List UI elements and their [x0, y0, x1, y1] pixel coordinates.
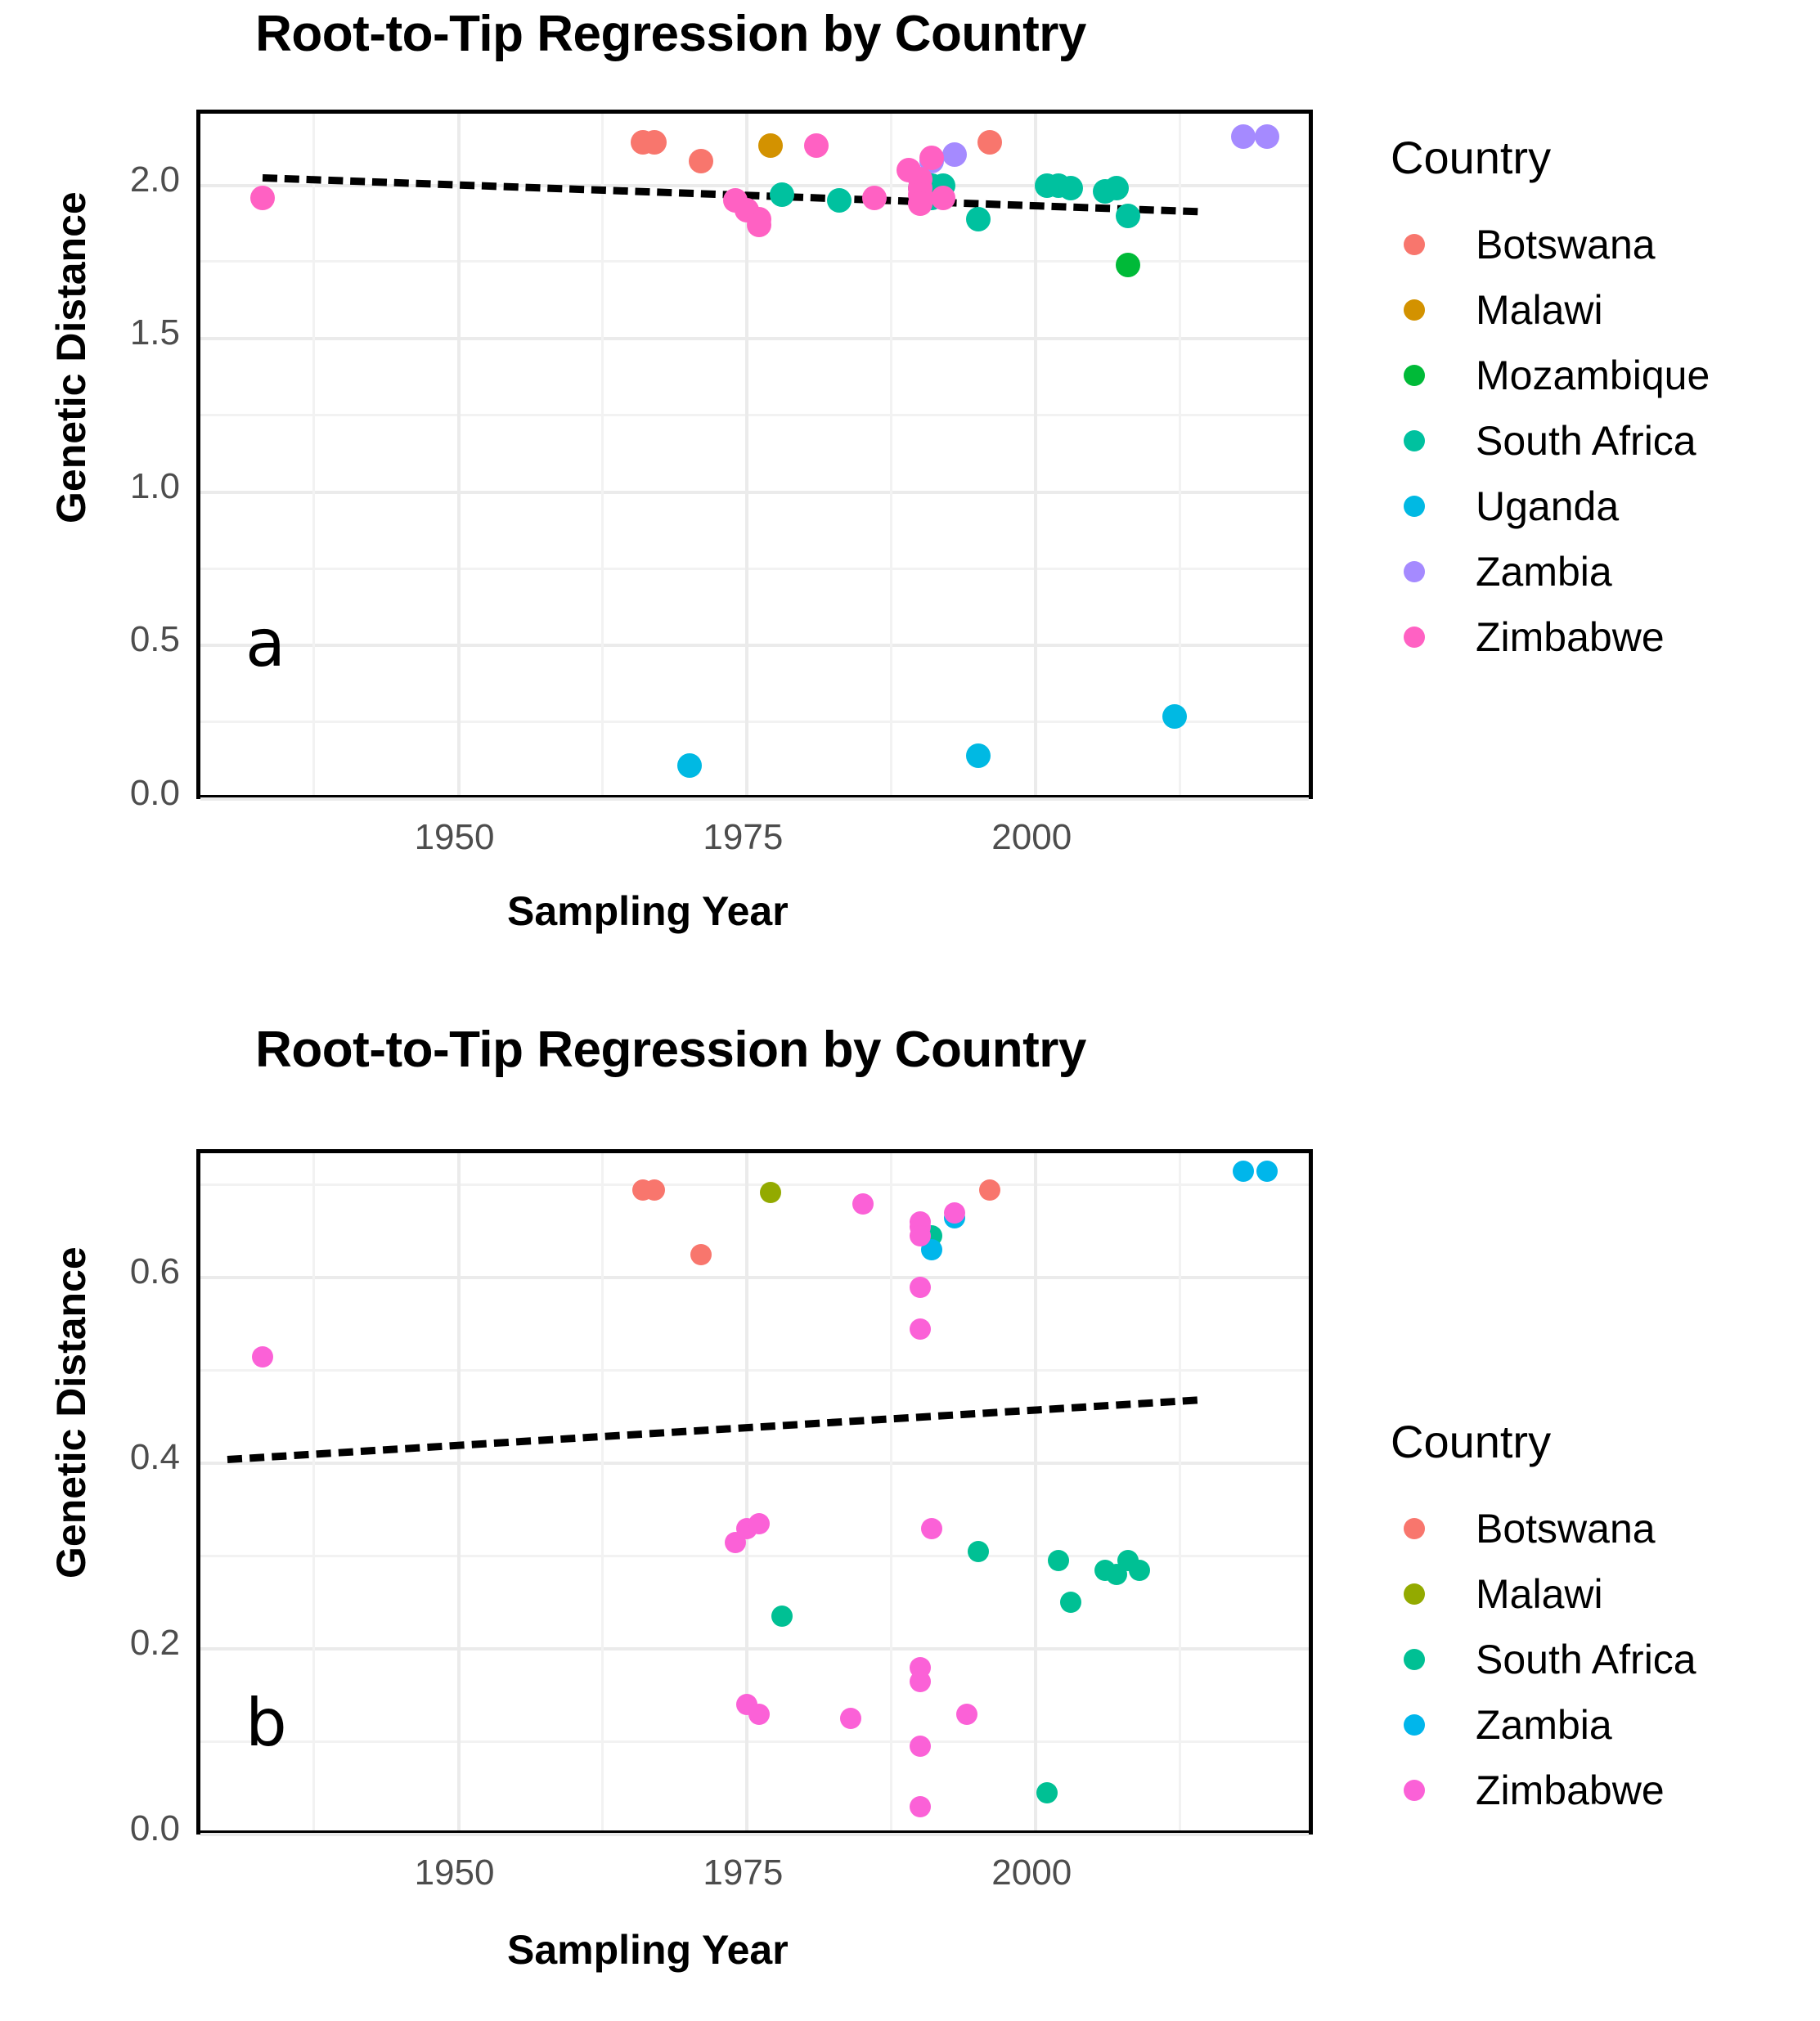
gridline-vertical — [890, 114, 892, 795]
gridline-horizontal — [200, 1276, 1309, 1279]
data-point-south-africa — [1036, 1782, 1058, 1803]
panel-a: Root-to-Tip Regression by Country Geneti… — [0, 0, 1820, 1006]
gridline-vertical — [601, 114, 604, 795]
data-point-zimbabwe — [910, 1277, 931, 1298]
y-tick-label: 0.0 — [45, 773, 180, 814]
data-point-zambia — [1256, 1161, 1278, 1182]
gridline-horizontal — [200, 414, 1309, 416]
panel-a-legend: Country BotswanaMalawiMozambiqueSouth Af… — [1391, 131, 1710, 670]
legend-item-label: South Africa — [1476, 1636, 1696, 1683]
data-point-south-africa — [968, 1541, 989, 1562]
panel-b-legend-rows: BotswanaMalawiSouth AfricaZambiaZimbabwe — [1391, 1496, 1696, 1823]
panel-b-legend: Country BotswanaMalawiSouth AfricaZambia… — [1391, 1415, 1696, 1823]
legend-item-label: Malawi — [1476, 286, 1603, 334]
data-point-zimbabwe — [252, 1346, 273, 1368]
legend-key-dot-icon — [1391, 1636, 1438, 1683]
legend-key-dot-icon — [1391, 613, 1438, 661]
panel-a-legend-title: Country — [1391, 131, 1710, 184]
gridline-horizontal — [200, 260, 1309, 263]
legend-key-dot-icon — [1391, 483, 1438, 530]
legend-item-zimbabwe[interactable]: Zimbabwe — [1391, 604, 1710, 670]
data-point-zimbabwe — [908, 191, 932, 216]
data-point-zambia — [1255, 124, 1279, 149]
panel-a-x-axis-label: Sampling Year — [507, 887, 789, 935]
gridline-vertical — [1034, 1153, 1037, 1830]
gridline-horizontal — [200, 1369, 1309, 1372]
data-point-zimbabwe — [921, 1518, 942, 1539]
data-point-zimbabwe — [747, 213, 771, 237]
gridline-horizontal — [200, 1647, 1309, 1650]
data-point-south-africa — [770, 182, 794, 207]
x-tick-label: 1975 — [653, 817, 833, 858]
legend-key-dot-icon — [1391, 548, 1438, 595]
panel-a-plot-area — [196, 110, 1313, 799]
regression-trendline — [227, 1397, 1198, 1464]
legend-item-south-africa[interactable]: South Africa — [1391, 408, 1710, 474]
legend-item-label: Uganda — [1476, 483, 1619, 530]
y-tick-label: 0.4 — [45, 1437, 180, 1478]
data-point-zimbabwe — [956, 1704, 977, 1725]
panel-a-letter: a — [245, 605, 285, 681]
data-point-botswana — [979, 1179, 1000, 1201]
data-point-south-africa — [1129, 1560, 1150, 1581]
data-point-south-africa — [771, 1606, 793, 1627]
x-tick-label: 1950 — [365, 1853, 545, 1893]
data-point-mozambique — [1116, 253, 1140, 277]
data-point-zimbabwe — [919, 146, 944, 170]
gridline-vertical — [457, 114, 461, 795]
gridline-horizontal — [200, 491, 1309, 494]
data-point-botswana — [690, 1244, 712, 1265]
y-tick-label: 0.5 — [45, 619, 180, 660]
legend-item-zambia[interactable]: Zambia — [1391, 539, 1710, 604]
legend-item-botswana[interactable]: Botswana — [1391, 1496, 1696, 1561]
data-point-zimbabwe — [910, 1736, 931, 1757]
gridline-horizontal — [200, 1555, 1309, 1557]
data-point-botswana — [644, 1179, 665, 1201]
gridline-vertical — [312, 114, 315, 795]
data-point-south-africa — [1104, 176, 1129, 200]
data-point-zambia — [1233, 1161, 1254, 1182]
panel-b-plot-area — [196, 1149, 1313, 1835]
panel-b-x-axis-label: Sampling Year — [507, 1926, 789, 1974]
legend-item-label: South Africa — [1476, 417, 1696, 465]
data-point-botswana — [642, 130, 667, 155]
panel-a-title: Root-to-Tip Regression by Country — [0, 5, 1341, 63]
gridline-horizontal — [200, 797, 1309, 801]
gridline-vertical — [312, 1153, 315, 1830]
data-point-zimbabwe — [944, 1202, 965, 1224]
legend-item-label: Zambia — [1476, 548, 1612, 595]
data-point-zimbabwe — [748, 1513, 770, 1534]
data-point-south-africa — [966, 207, 991, 231]
data-point-south-africa — [827, 188, 852, 213]
legend-key-dot-icon — [1391, 1767, 1438, 1814]
gridline-horizontal — [200, 1833, 1309, 1836]
figure-root: Root-to-Tip Regression by Country Geneti… — [0, 0, 1820, 2021]
data-point-zimbabwe — [910, 1225, 931, 1246]
panel-b-letter: b — [245, 1685, 287, 1761]
legend-item-label: Zimbabwe — [1476, 613, 1665, 661]
legend-item-uganda[interactable]: Uganda — [1391, 474, 1710, 539]
gridline-vertical — [745, 1153, 748, 1830]
x-tick-label: 1950 — [365, 817, 545, 858]
legend-item-mozambique[interactable]: Mozambique — [1391, 343, 1710, 408]
gridline-horizontal — [200, 1462, 1309, 1465]
data-point-zimbabwe — [910, 1671, 931, 1692]
gridline-horizontal — [200, 1740, 1309, 1743]
legend-key-dot-icon — [1391, 1570, 1438, 1618]
data-point-malawi — [760, 1182, 781, 1203]
gridline-horizontal — [200, 1183, 1309, 1186]
gridline-vertical — [890, 1153, 892, 1830]
legend-item-label: Malawi — [1476, 1570, 1603, 1618]
legend-key-dot-icon — [1391, 221, 1438, 268]
data-point-south-africa — [1058, 176, 1083, 200]
data-point-uganda — [1162, 704, 1187, 729]
legend-item-label: Botswana — [1476, 221, 1656, 268]
gridline-vertical — [1179, 114, 1181, 795]
gridline-horizontal — [200, 721, 1309, 723]
legend-item-south-africa[interactable]: South Africa — [1391, 1627, 1696, 1692]
data-point-zimbabwe — [250, 186, 275, 210]
data-point-south-africa — [1048, 1550, 1069, 1571]
data-point-zimbabwe — [862, 186, 887, 210]
gridline-vertical — [457, 1153, 461, 1830]
legend-item-zambia[interactable]: Zambia — [1391, 1692, 1696, 1758]
legend-key-dot-icon — [1391, 1505, 1438, 1552]
data-point-zimbabwe — [852, 1193, 874, 1215]
legend-key-dot-icon — [1391, 1701, 1438, 1749]
x-tick-label: 1975 — [653, 1853, 833, 1893]
legend-item-label: Zambia — [1476, 1701, 1612, 1749]
panel-b: Root-to-Tip Regression by Country Geneti… — [0, 1006, 1820, 2021]
y-tick-label: 0.6 — [45, 1251, 180, 1292]
gridline-vertical — [1179, 1153, 1181, 1830]
legend-item-botswana[interactable]: Botswana — [1391, 212, 1710, 277]
legend-item-label: Zimbabwe — [1476, 1767, 1665, 1814]
data-point-zimbabwe — [840, 1708, 861, 1729]
data-point-zambia — [942, 142, 967, 167]
data-point-zimbabwe — [748, 1704, 770, 1725]
legend-key-dot-icon — [1391, 417, 1438, 465]
data-point-south-africa — [1060, 1592, 1081, 1613]
data-point-zimbabwe — [910, 1318, 931, 1340]
data-point-zimbabwe — [931, 186, 955, 210]
legend-key-dot-icon — [1391, 286, 1438, 334]
legend-item-zimbabwe[interactable]: Zimbabwe — [1391, 1758, 1696, 1823]
data-point-zambia — [1231, 124, 1256, 149]
data-point-malawi — [758, 133, 783, 158]
panel-b-title: Root-to-Tip Regression by Country — [0, 1021, 1341, 1079]
x-tick-label: 2000 — [941, 1853, 1121, 1893]
data-point-botswana — [977, 130, 1002, 155]
legend-key-dot-icon — [1391, 352, 1438, 399]
y-tick-label: 0.0 — [45, 1808, 180, 1849]
data-point-zimbabwe — [910, 1796, 931, 1817]
y-tick-label: 2.0 — [45, 159, 180, 200]
panel-a-legend-rows: BotswanaMalawiMozambiqueSouth AfricaUgan… — [1391, 212, 1710, 670]
gridline-horizontal — [200, 337, 1309, 340]
gridline-horizontal — [200, 644, 1309, 647]
gridline-vertical — [1034, 114, 1037, 795]
data-point-zimbabwe — [804, 133, 829, 158]
data-point-south-africa — [1116, 204, 1140, 228]
x-tick-label: 2000 — [941, 817, 1121, 858]
data-point-uganda — [966, 743, 991, 768]
panel-b-y-axis-label: Genetic Distance — [47, 1246, 95, 1579]
data-point-uganda — [677, 753, 702, 778]
legend-item-label: Botswana — [1476, 1505, 1656, 1552]
gridline-horizontal — [200, 568, 1309, 570]
gridline-vertical — [601, 1153, 604, 1830]
y-tick-label: 0.2 — [45, 1623, 180, 1664]
y-tick-label: 1.5 — [45, 312, 180, 353]
panel-b-legend-title: Country — [1391, 1415, 1696, 1468]
legend-item-malawi[interactable]: Malawi — [1391, 1561, 1696, 1627]
data-point-botswana — [689, 149, 713, 173]
y-tick-label: 1.0 — [45, 466, 180, 507]
legend-item-malawi[interactable]: Malawi — [1391, 277, 1710, 343]
legend-item-label: Mozambique — [1476, 352, 1710, 399]
